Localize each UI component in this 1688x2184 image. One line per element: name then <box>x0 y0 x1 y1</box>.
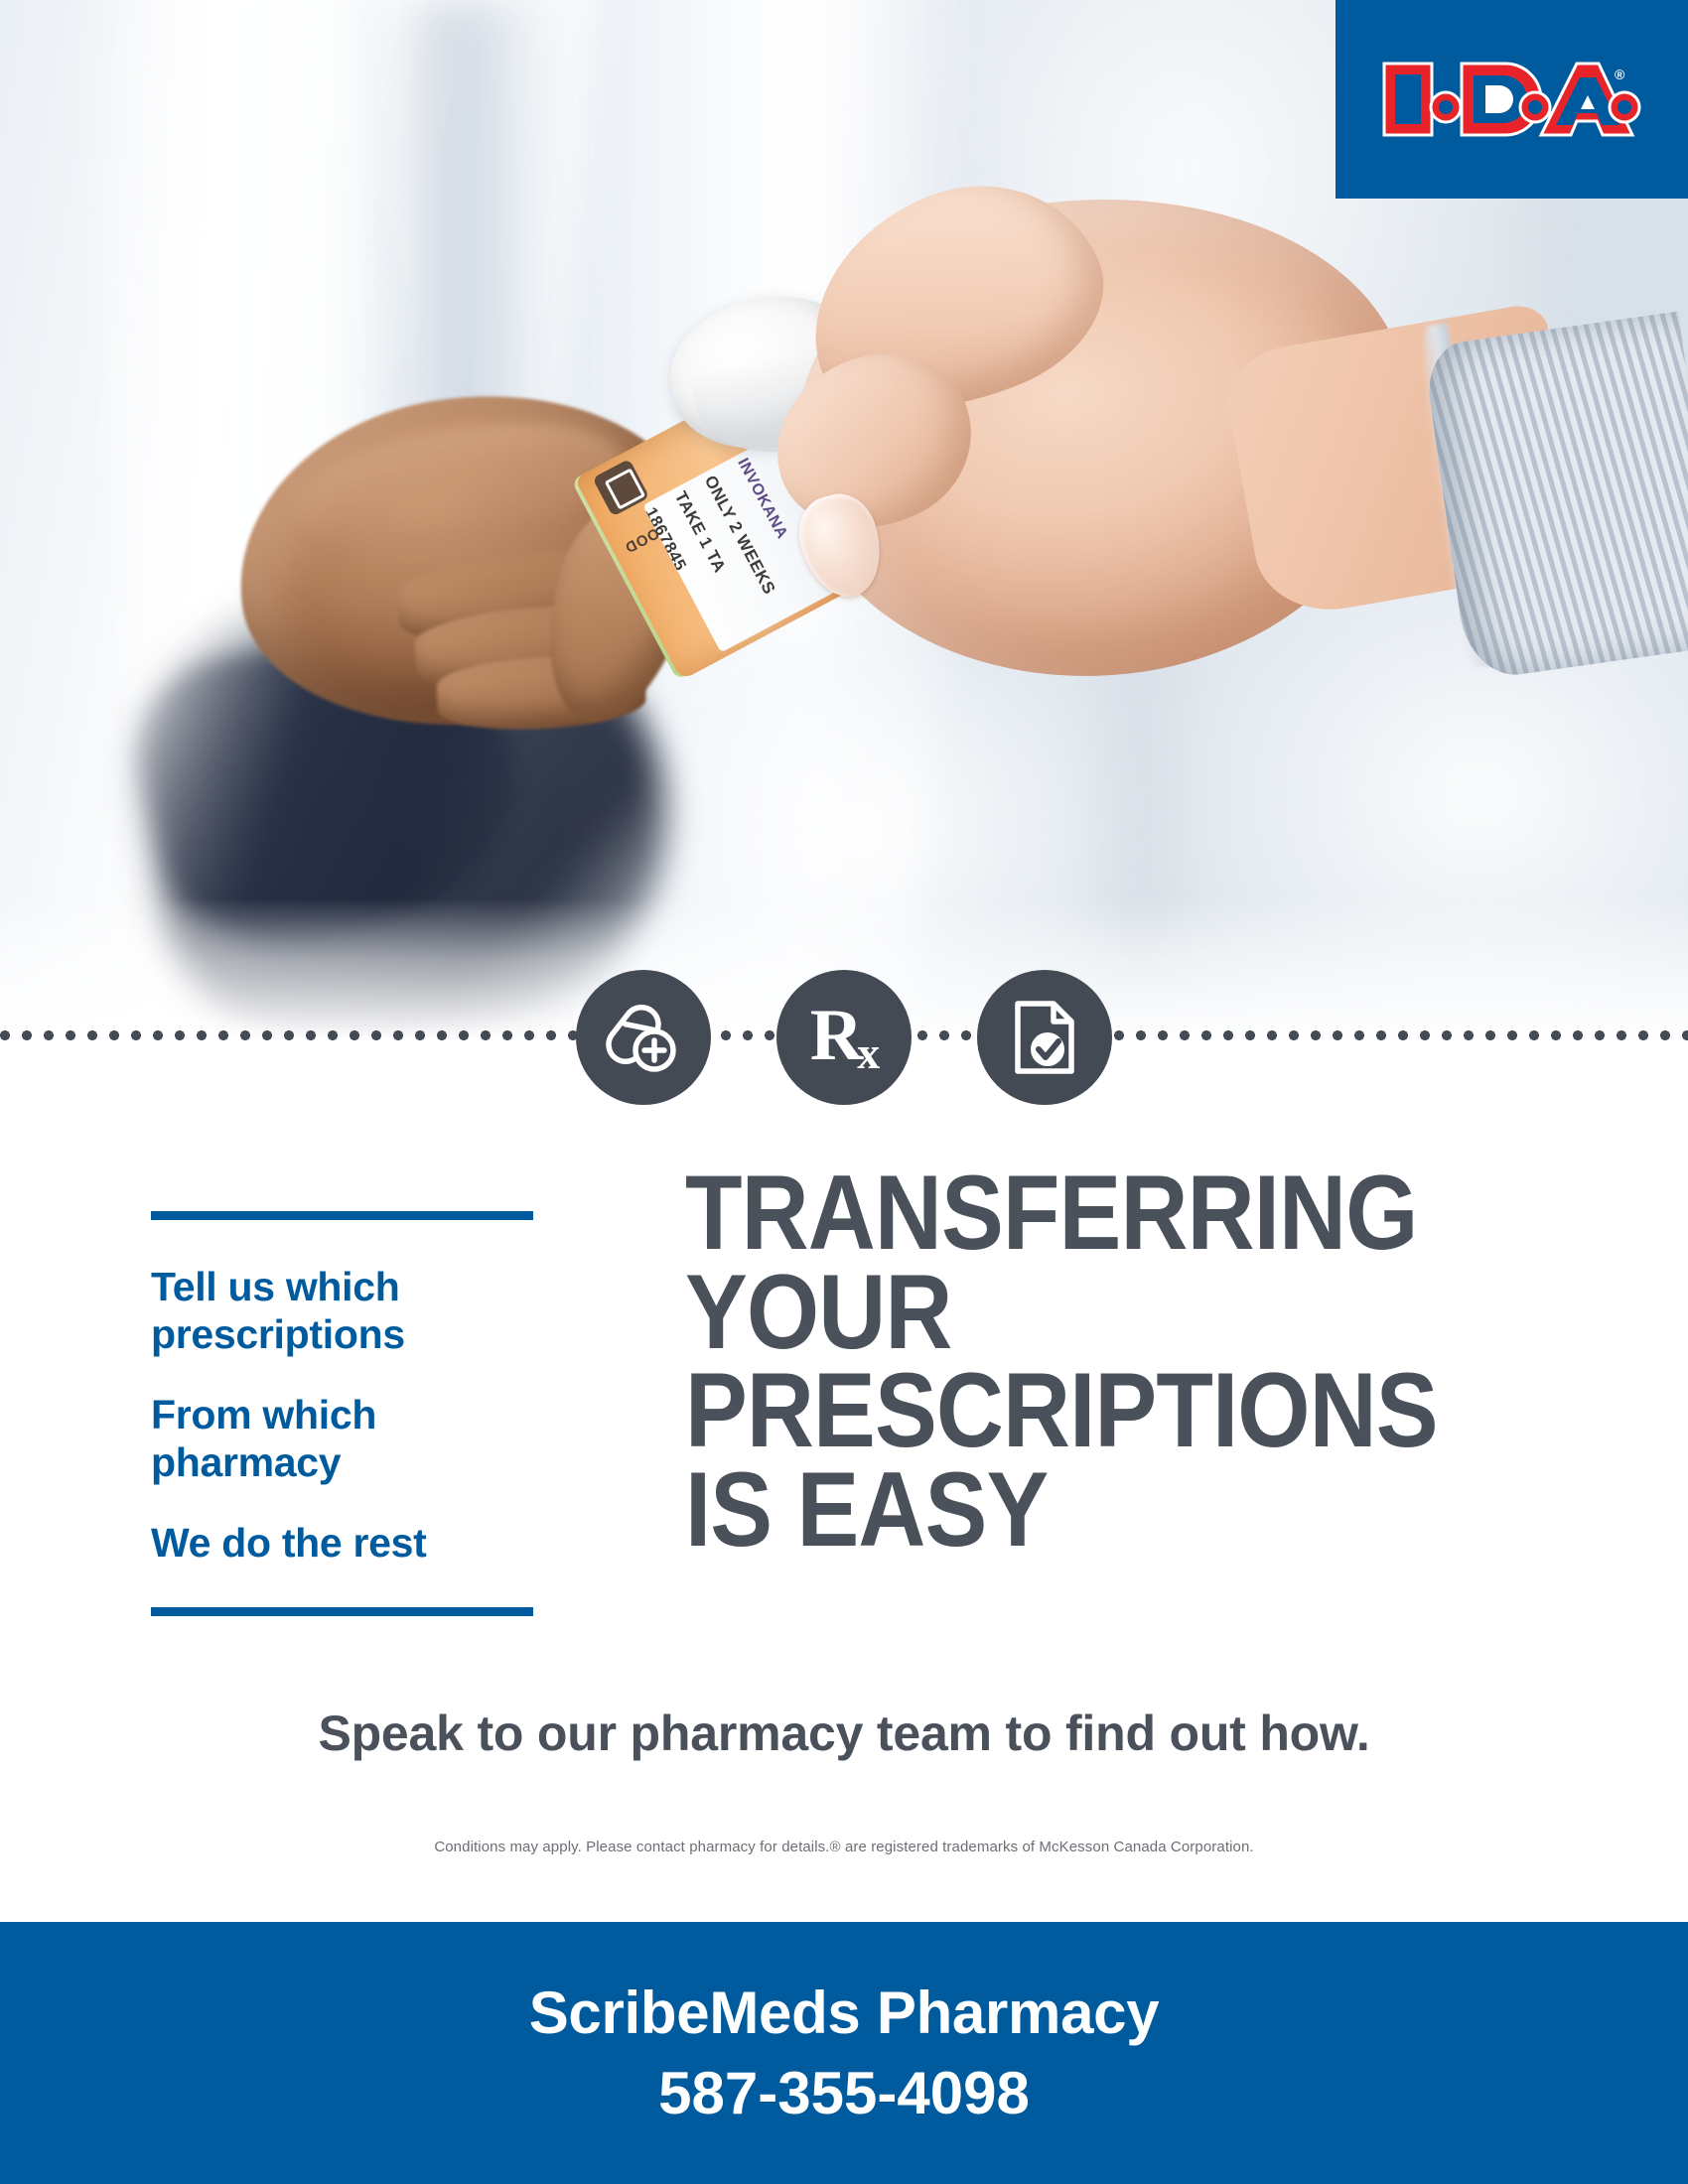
step-item-3: We do the rest <box>151 1520 533 1568</box>
pills-plus-icon <box>576 970 711 1105</box>
footer-bar: ScribeMeds Pharmacy 587-355-4098 <box>0 1922 1688 2184</box>
pharmacy-name: ScribeMeds Pharmacy <box>529 1979 1160 2047</box>
svg-text:®: ® <box>1615 67 1625 82</box>
disclaimer-text: Conditions may apply. Please contact pha… <box>0 1839 1688 1855</box>
headline-line-2: YOUR <box>685 1263 1472 1362</box>
step-item-2: From which pharmacy <box>151 1392 533 1486</box>
customer-knit-sleeve <box>1423 312 1688 682</box>
ida-logo-block: ® <box>1336 0 1688 199</box>
step-item-1: Tell us which prescriptions <box>151 1264 533 1358</box>
page-headline: TRANSFERRING YOUR PRESCRIPTIONS IS EASY <box>685 1163 1472 1559</box>
rx-glyph-text: Rx <box>810 999 878 1075</box>
ida-logo-icon: ® <box>1378 52 1646 147</box>
headline-line-1: TRANSFERRING <box>685 1163 1472 1263</box>
subheadline: Speak to our pharmacy team to find out h… <box>0 1705 1688 1762</box>
poster: TAKE WITH FOOD 1867845 TAKE 1 TA ONLY 2 … <box>0 0 1688 2184</box>
rx-icon: Rx <box>776 970 912 1105</box>
headline-line-4: IS EASY <box>685 1460 1472 1560</box>
steps-rule-top <box>151 1211 533 1220</box>
headline-line-3: PRESCRIPTIONS <box>685 1361 1472 1460</box>
document-check-icon <box>977 970 1112 1105</box>
steps-list: Tell us which prescriptions From which p… <box>151 1211 533 1616</box>
pharmacy-phone[interactable]: 587-355-4098 <box>658 2059 1030 2127</box>
steps-rule-bottom <box>151 1607 533 1616</box>
